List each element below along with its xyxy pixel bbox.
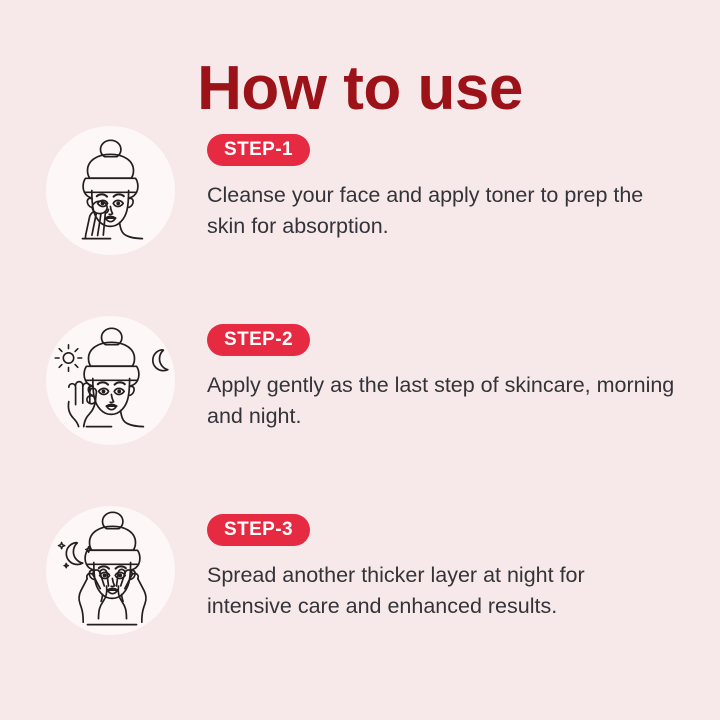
illustration-circle (46, 316, 175, 445)
step-row: STEP-1 Cleanse your face and apply toner… (0, 112, 720, 302)
step-2-illustration (46, 316, 175, 445)
step-badge: STEP-3 (207, 514, 310, 546)
illustration-circle (46, 506, 175, 635)
page-title: How to use (0, 56, 720, 121)
illustration-circle (46, 126, 175, 255)
woman-patting-face-night-moon-stars-icon (46, 506, 175, 635)
woman-applying-cream-sun-and-moon-icon (46, 316, 175, 445)
step-1-text: STEP-1 Cleanse your face and apply toner… (207, 134, 677, 242)
sun-icon (55, 345, 81, 371)
step-row: STEP-3 Spread another thicker layer at n… (0, 492, 720, 682)
woman-cleansing-face-with-cotton-pad-icon (46, 126, 175, 255)
step-3-illustration (46, 506, 175, 635)
step-badge: STEP-1 (207, 134, 310, 166)
step-3-text: STEP-3 Spread another thicker layer at n… (207, 514, 677, 622)
step-description: Cleanse your face and apply toner to pre… (207, 180, 675, 242)
step-2-text: STEP-2 Apply gently as the last step of … (207, 324, 677, 432)
moon-icon (66, 543, 82, 565)
moon-icon (153, 350, 168, 371)
step-1-illustration (46, 126, 175, 255)
step-badge: STEP-2 (207, 324, 310, 356)
step-description: Apply gently as the last step of skincar… (207, 370, 675, 432)
steps-list: STEP-1 Cleanse your face and apply toner… (0, 112, 720, 682)
step-row: STEP-2 Apply gently as the last step of … (0, 302, 720, 492)
how-to-use-infographic: How to use (0, 0, 720, 720)
step-description: Spread another thicker layer at night fo… (207, 560, 675, 622)
